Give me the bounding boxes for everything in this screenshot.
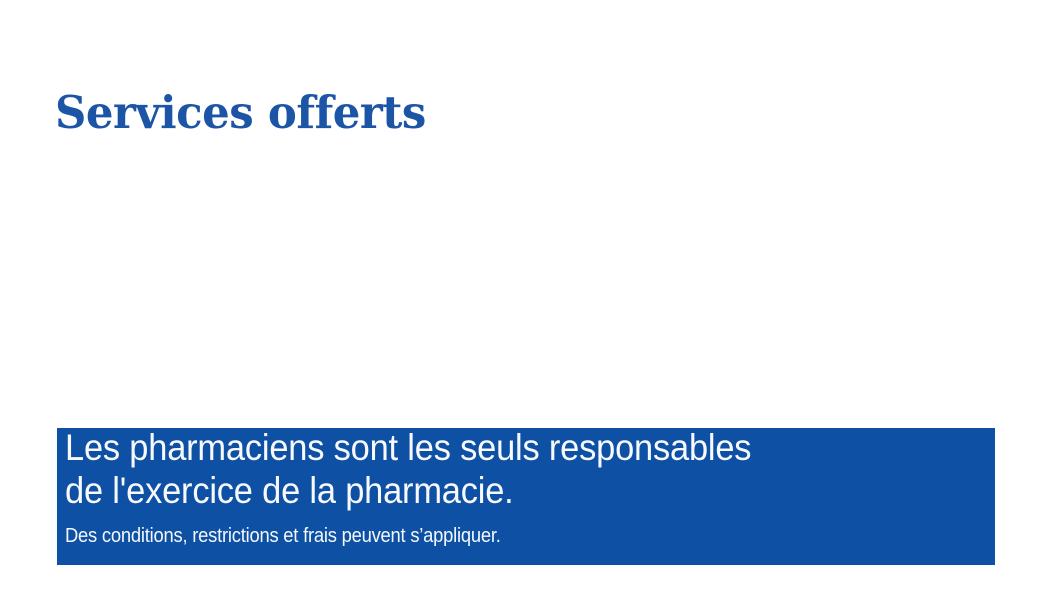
callout-headline: Les pharmaciens sont les seuls responsab… bbox=[65, 426, 921, 512]
callout-subline: Des conditions, restrictions et frais pe… bbox=[65, 524, 501, 549]
presentation-slide: Services offerts Les pharmaciens sont le… bbox=[0, 0, 1050, 600]
callout-headline-line-2: de l'exercice de la pharmacie. bbox=[65, 469, 921, 512]
callout-banner: Les pharmaciens sont les seuls responsab… bbox=[57, 428, 995, 565]
callout-headline-line-1: Les pharmaciens sont les seuls responsab… bbox=[65, 426, 921, 469]
page-title: Services offerts bbox=[55, 87, 426, 139]
